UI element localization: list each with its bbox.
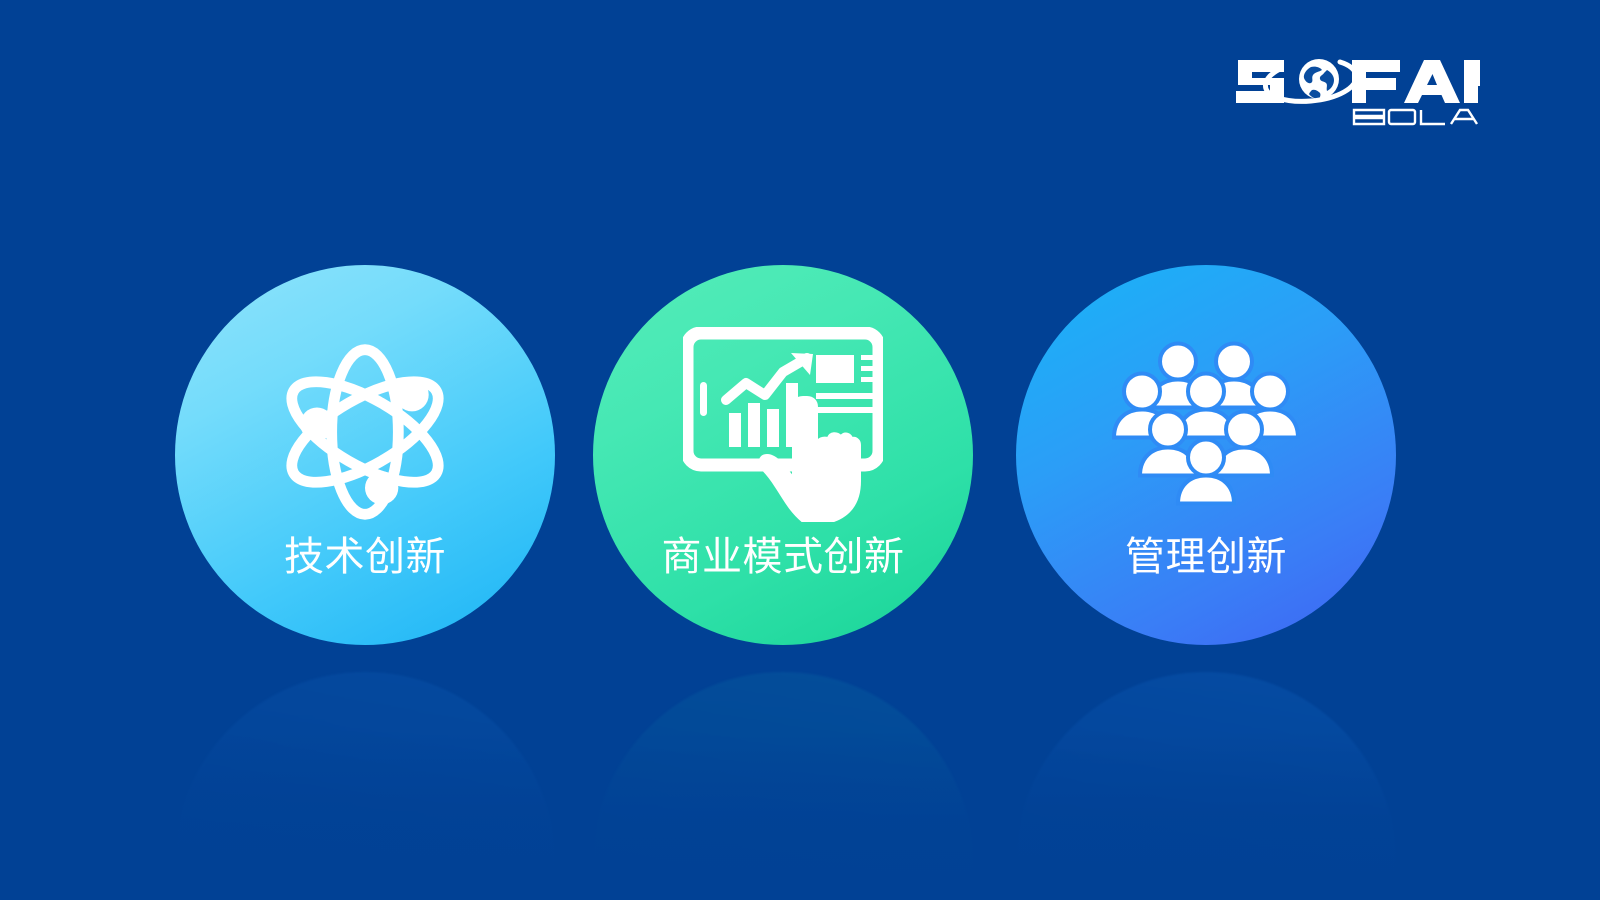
- card-circle-background: [175, 265, 555, 645]
- slide-canvas: 技术创新: [0, 0, 1600, 900]
- card-label: 管理创新: [1016, 537, 1396, 577]
- reflection-business-model-innovation: [593, 672, 973, 900]
- people-group-icon: [1106, 340, 1306, 525]
- card-label: 技术创新: [175, 537, 555, 577]
- atom-icon: [267, 334, 463, 530]
- reflection-technology-innovation: [175, 672, 555, 900]
- card-business-model-innovation[interactable]: 商业模式创新: [593, 265, 973, 645]
- card-circle-background: [593, 265, 973, 645]
- card-technology-innovation[interactable]: 技术创新: [175, 265, 555, 645]
- sofar-solar-logo: [1232, 48, 1480, 126]
- tablet-chart-touch-icon: [683, 327, 883, 537]
- card-circle-background: [1016, 265, 1396, 645]
- reflection-management-innovation: [1016, 672, 1396, 900]
- card-label: 商业模式创新: [593, 537, 973, 577]
- card-management-innovation[interactable]: 管理创新: [1016, 265, 1396, 645]
